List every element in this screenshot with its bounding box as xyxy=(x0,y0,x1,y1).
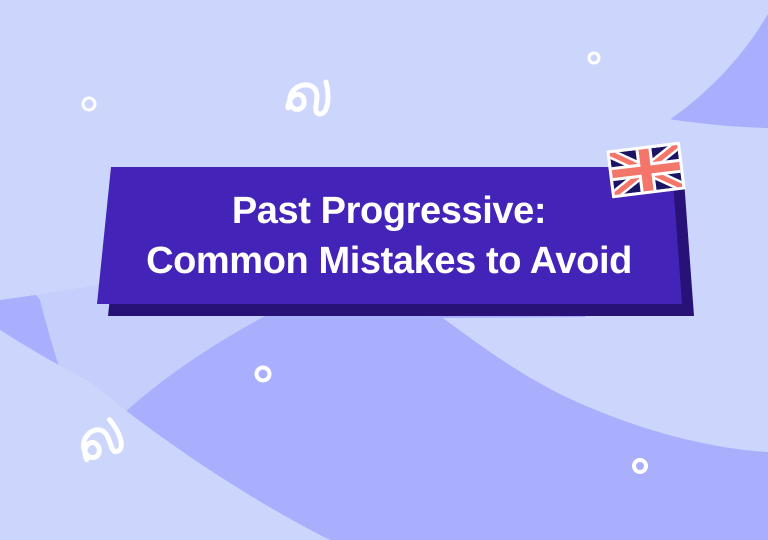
flag-field xyxy=(610,145,683,195)
page-title-line-2: Common Mistakes to Avoid xyxy=(146,236,632,286)
united-kingdom-flag-icon xyxy=(602,136,690,204)
banner-title-block: Past Progressive: Common Mistakes to Avo… xyxy=(96,180,682,292)
page-title-line-1: Past Progressive: xyxy=(232,186,546,236)
poster-canvas: Past Progressive: Common Mistakes to Avo… xyxy=(0,0,768,540)
